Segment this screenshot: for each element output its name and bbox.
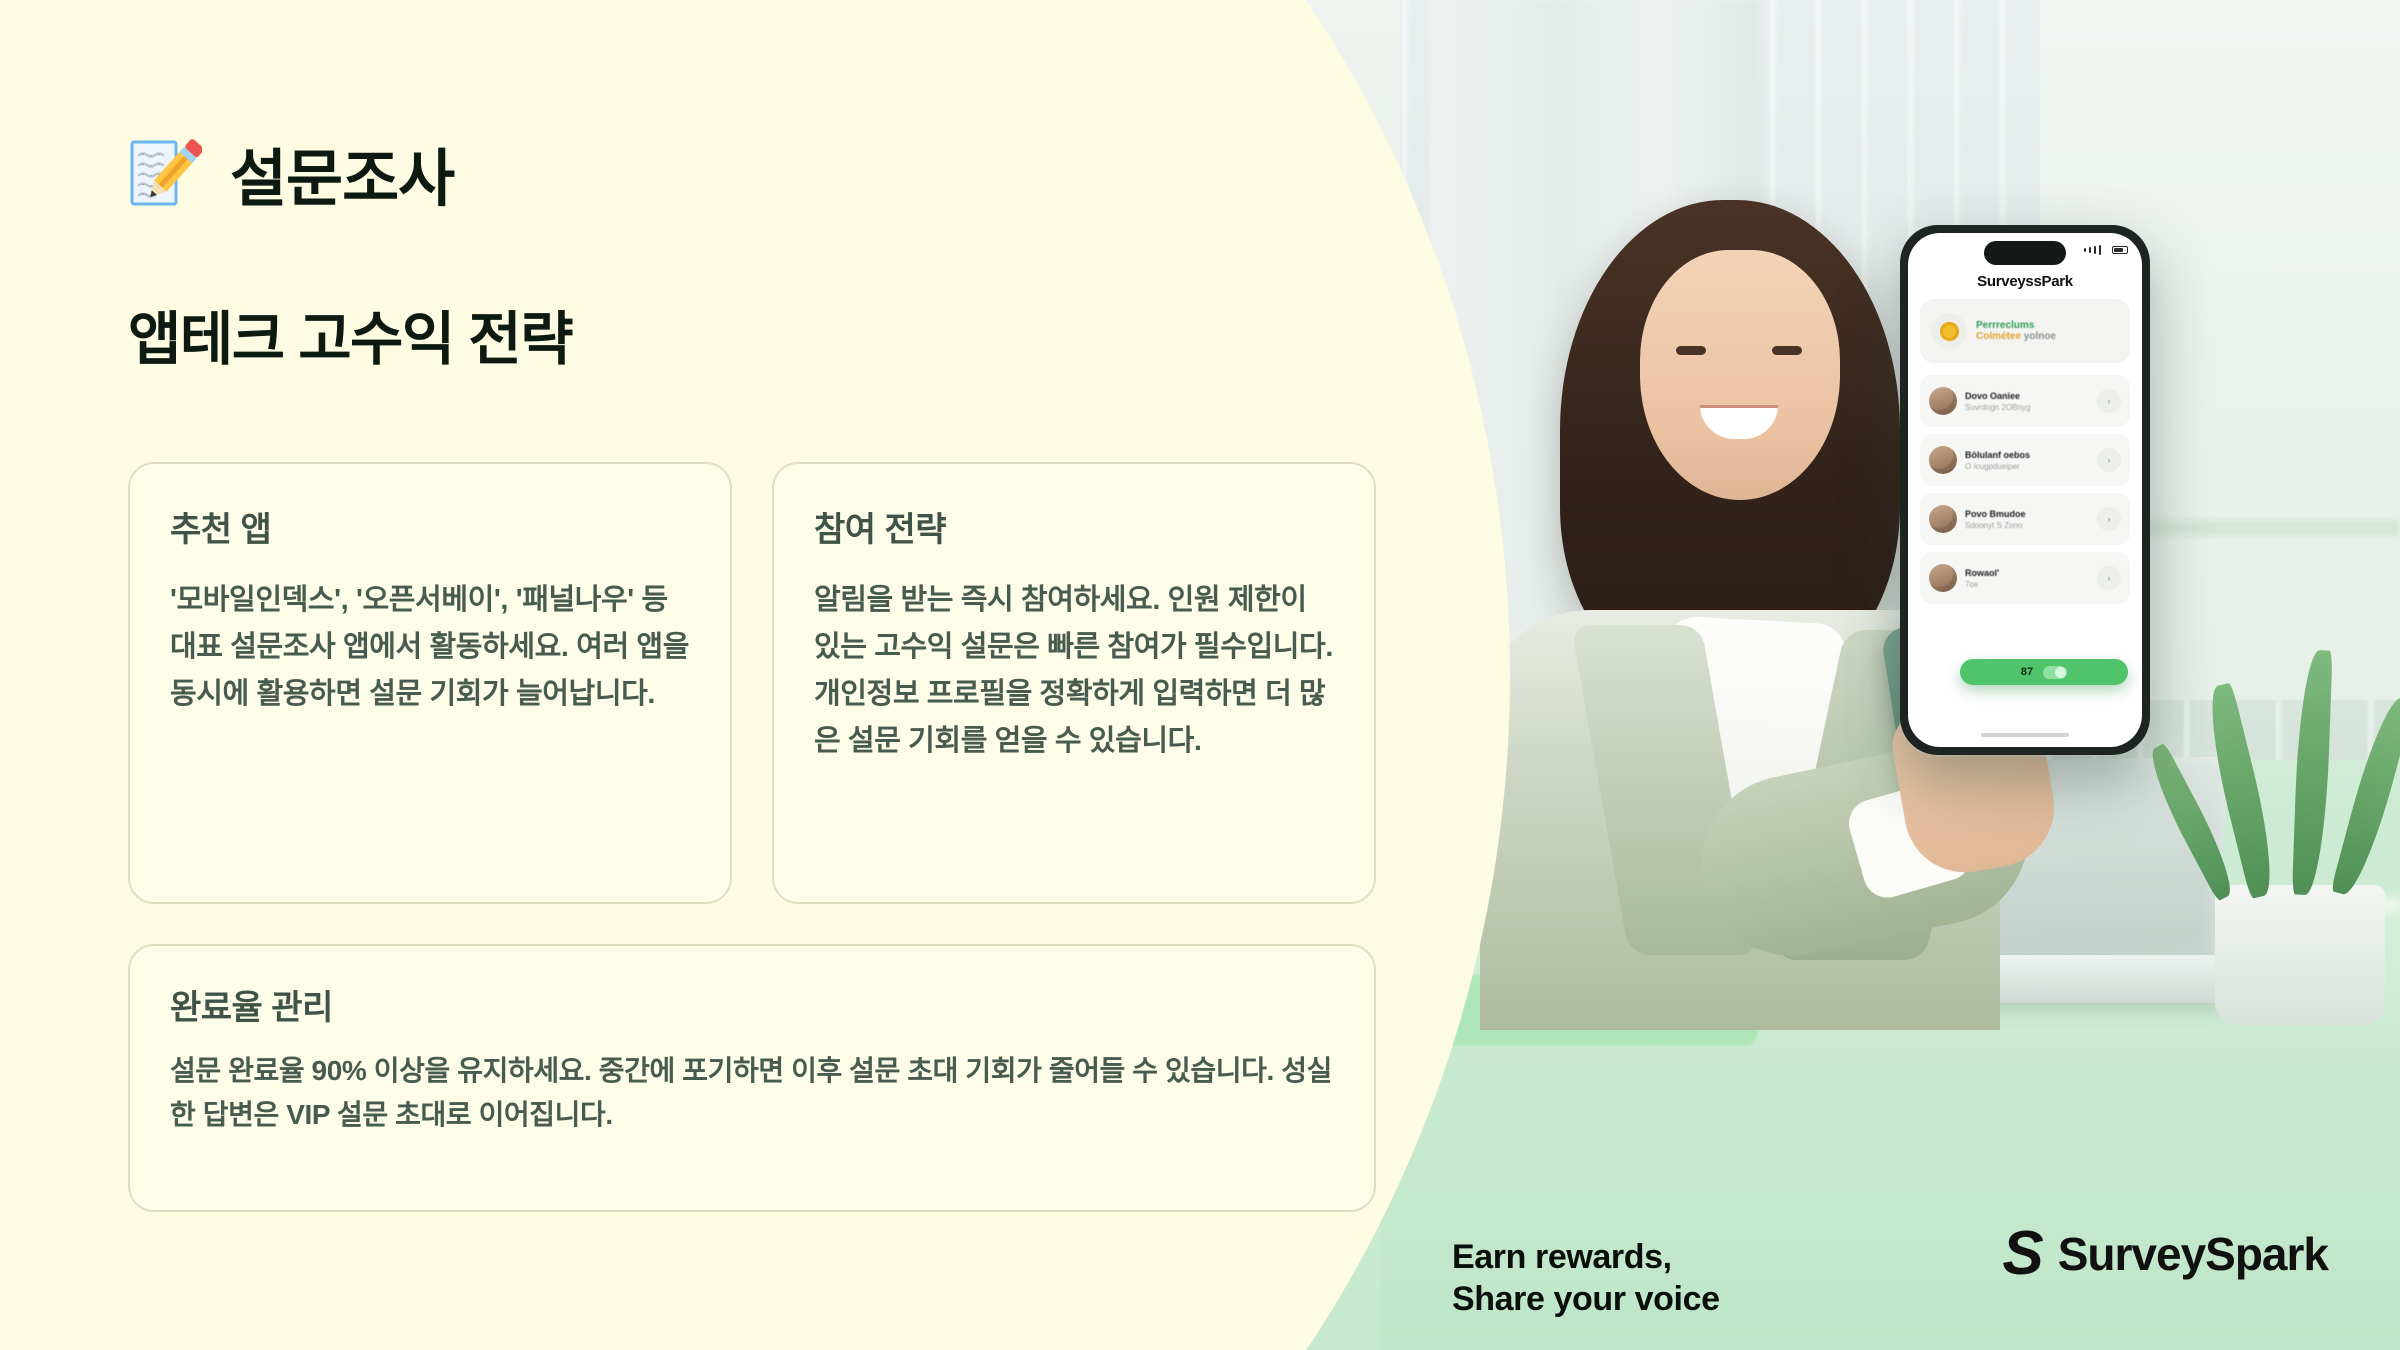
page-title: 설문조사 bbox=[230, 128, 454, 218]
list-item-title: Bölulanf oebos bbox=[1965, 450, 2089, 460]
phone-notch bbox=[1984, 241, 2066, 265]
person-eye-left bbox=[1676, 346, 1706, 355]
battery-icon bbox=[2112, 246, 2128, 254]
list-item[interactable]: Bölulanf oebos O ícugpdueiper › bbox=[1920, 434, 2130, 486]
phone-status-bar bbox=[2084, 245, 2128, 255]
phone-rewards-card[interactable]: Perrreclums Colmétee yolnoe bbox=[1920, 299, 2130, 363]
card-title: 추천 앱 bbox=[170, 502, 690, 551]
page-subtitle: 앱테크 고수익 전략 bbox=[128, 292, 572, 376]
avatar bbox=[1929, 505, 1957, 533]
photo-tagline: Earn rewards, Share your voice bbox=[1452, 1237, 1720, 1320]
signal-bars-icon bbox=[2084, 248, 2086, 252]
list-item-subtitle: Sdoonyt S Zono bbox=[1965, 521, 2089, 530]
phone-rewards-line-2-muted: yolnoe bbox=[2024, 331, 2056, 342]
phone-mockup: SurveyssPark Perrreclums Colmétee yolnoe… bbox=[1900, 225, 2150, 755]
list-item-subtitle: O ícugpdueiper bbox=[1965, 462, 2089, 471]
chevron-icon[interactable]: › bbox=[2097, 507, 2121, 531]
brand-lockup: S SurveySpark bbox=[2002, 1226, 2328, 1282]
card-body: '모바일인덱스', '오픈서베이', '패널나우' 등 대표 설문조사 앱에서 … bbox=[170, 577, 690, 718]
signal-bars-icon bbox=[2099, 245, 2101, 255]
toggle-switch[interactable] bbox=[2043, 666, 2067, 679]
phone-reward-pill[interactable]: 87 bbox=[1960, 659, 2128, 685]
list-item-title: Rowaol' bbox=[1965, 568, 2089, 578]
list-item[interactable]: Povo Bmudoe Sdoonyt S Zono › bbox=[1920, 493, 2130, 545]
avatar bbox=[1929, 564, 1957, 592]
list-item-subtitle: Suvrdogn 2OBnyg bbox=[1965, 403, 2089, 412]
title-row: 설문조사 bbox=[128, 128, 454, 218]
surveyspark-logo-icon: S bbox=[2002, 1226, 2041, 1282]
phone-screen: SurveyssPark Perrreclums Colmétee yolnoe… bbox=[1908, 233, 2142, 747]
chevron-icon[interactable]: › bbox=[2097, 566, 2121, 590]
brand-name: SurveySpark bbox=[2058, 1227, 2328, 1281]
coin-icon bbox=[1931, 313, 1967, 349]
phone-rewards-line-2-main: Colmétee bbox=[1976, 331, 2021, 342]
card-participation-strategy: 참여 전략 알림을 받는 즉시 참여하세요. 인원 제한이 있는 고수익 설문은… bbox=[772, 462, 1376, 904]
phone-rewards-line-2: Colmétee yolnoe bbox=[1976, 331, 2119, 342]
chevron-icon[interactable]: › bbox=[2097, 389, 2121, 413]
card-title: 완료율 관리 bbox=[170, 980, 1334, 1029]
card-recommended-apps: 추천 앱 '모바일인덱스', '오픈서베이', '패널나우' 등 대표 설문조사… bbox=[128, 462, 732, 904]
phone-app-brand: SurveyssPark bbox=[1908, 273, 2142, 290]
card-body: 설문 완료율 90% 이상을 유지하세요. 중간에 포기하면 이후 설문 초대 … bbox=[170, 1049, 1334, 1137]
signal-bars-icon bbox=[2094, 246, 2096, 254]
card-title: 참여 전략 bbox=[814, 502, 1334, 551]
person-eye-right bbox=[1772, 346, 1802, 355]
list-item[interactable]: Dovo Oaniee Suvrdogn 2OBnyg › bbox=[1920, 375, 2130, 427]
phone-survey-list: Dovo Oaniee Suvrdogn 2OBnyg › Bölulanf o… bbox=[1920, 375, 2130, 604]
phone-home-indicator bbox=[1981, 733, 2069, 737]
plant-pot bbox=[2215, 885, 2385, 1025]
avatar bbox=[1929, 446, 1957, 474]
chevron-icon[interactable]: › bbox=[2097, 448, 2121, 472]
list-item-title: Dovo Oaniee bbox=[1965, 391, 2089, 401]
person-face bbox=[1640, 250, 1840, 500]
phone-reward-value: 87 bbox=[2021, 666, 2033, 678]
list-item[interactable]: Rowaol' 7oe › bbox=[1920, 552, 2130, 604]
card-body: 알림을 받는 즉시 참여하세요. 인원 제한이 있는 고수익 설문은 빠른 참여… bbox=[814, 577, 1334, 765]
list-item-subtitle: 7oe bbox=[1965, 580, 2089, 589]
signal-bars-icon bbox=[2089, 247, 2091, 253]
content-column: 설문조사 앱테크 고수익 전략 추천 앱 '모바일인덱스', '오픈서베이', … bbox=[0, 0, 1420, 1350]
card-completion-rate: 완료율 관리 설문 완료율 90% 이상을 유지하세요. 중간에 포기하면 이후… bbox=[128, 944, 1376, 1212]
phone-rewards-line-1: Perrreclums bbox=[1976, 320, 2119, 331]
memo-pencil-icon bbox=[128, 136, 202, 210]
list-item-title: Povo Bmudoe bbox=[1965, 509, 2089, 519]
avatar bbox=[1929, 387, 1957, 415]
